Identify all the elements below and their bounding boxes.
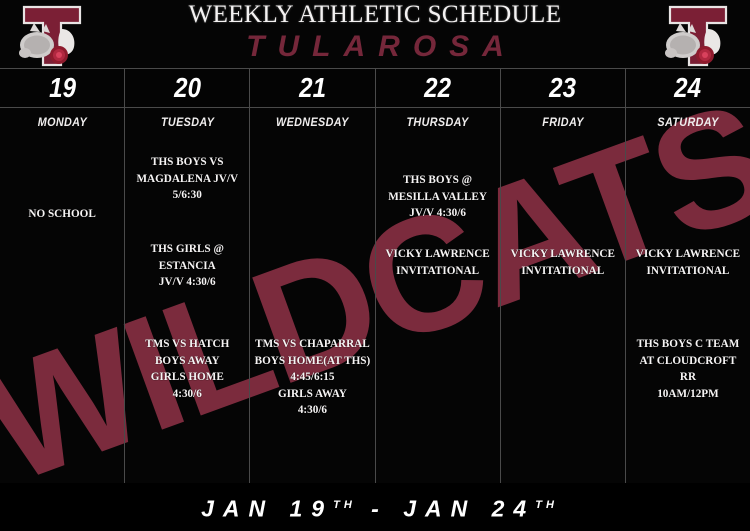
event-line: THS BOYS C TEAM <box>629 336 747 353</box>
day-name: MONDAY <box>37 116 86 128</box>
range-end-suffix: TH <box>535 499 558 511</box>
day-name: FRIDAY <box>542 116 584 128</box>
events-area: THS BOYS @MESILLA VALLEYJV/V 4:30/6VICKY… <box>376 136 500 483</box>
date-cell: 22 <box>376 69 500 108</box>
event-line: 4:45/6:15 <box>253 369 371 386</box>
event-line: GIRLS AWAY <box>253 386 371 403</box>
date-number: 23 <box>549 74 576 102</box>
event-line: MAGDALENA JV/V <box>128 171 246 188</box>
day-name-cell: FRIDAY <box>501 108 625 136</box>
day-name: SATURDAY <box>657 116 718 128</box>
day-name-cell: MONDAY <box>0 108 124 136</box>
event-line: VICKY LAWRENCE <box>379 246 497 263</box>
event-line: 10AM/12PM <box>629 386 747 403</box>
event-entry: THS GIRLS @ESTANCIAJV/V 4:30/6 <box>128 241 246 291</box>
day-name: TUESDAY <box>161 116 214 128</box>
day-name: THURSDAY <box>407 116 469 128</box>
range-end-day: 24 <box>492 496 536 522</box>
events-area: THS BOYS VSMAGDALENA JV/V5/6:30THS GIRLS… <box>125 136 249 483</box>
date-cell: 20 <box>125 69 249 108</box>
date-cell: 24 <box>626 69 750 108</box>
event-entry: VICKY LAWRENCEINVITATIONAL <box>629 246 747 279</box>
day-column-friday: 23FRIDAYVICKY LAWRENCEINVITATIONAL <box>501 69 626 483</box>
weekly-schedule-poster: WILDCATS WEEKLY ATHLETIC SCH <box>0 0 750 531</box>
poster-footer: JAN 19TH - JAN 24TH <box>0 483 750 531</box>
day-column-saturday: 24SATURDAYVICKY LAWRENCEINVITATIONALTHS … <box>626 69 750 483</box>
event-line: INVITATIONAL <box>504 263 622 280</box>
range-start-day: 19 <box>290 496 334 522</box>
event-line: JV/V 4:30/6 <box>128 274 246 291</box>
event-line: TMS VS HATCH <box>128 336 246 353</box>
event-line: BOYS AWAY <box>128 353 246 370</box>
range-separator: - <box>371 496 388 522</box>
day-name-cell: THURSDAY <box>376 108 500 136</box>
event-entry: THS BOYS VSMAGDALENA JV/V5/6:30 <box>128 154 246 204</box>
event-line: NO SCHOOL <box>3 206 121 223</box>
event-line: JV/V 4:30/6 <box>379 205 497 222</box>
poster-header: WEEKLY ATHLETIC SCHEDULE TULAROSA <box>0 0 750 68</box>
event-line: THS GIRLS @ <box>128 241 246 258</box>
event-line: TMS VS CHAPARRAL <box>253 336 371 353</box>
event-entry: NO SCHOOL <box>3 206 121 223</box>
schedule-grid: 19MONDAYNO SCHOOL20TUESDAYTHS BOYS VSMAG… <box>0 68 750 484</box>
tularosa-logo-right <box>650 1 746 67</box>
date-number: 19 <box>49 74 76 102</box>
range-start-month: JAN <box>201 496 274 522</box>
range-end-month: JAN <box>403 496 476 522</box>
event-line: INVITATIONAL <box>629 263 747 280</box>
event-entry: VICKY LAWRENCEINVITATIONAL <box>379 246 497 279</box>
event-line: 4:30/6 <box>128 386 246 403</box>
events-area: NO SCHOOL <box>0 136 124 483</box>
event-line: GIRLS HOME <box>128 369 246 386</box>
date-number: 21 <box>299 74 326 102</box>
range-start-suffix: TH <box>333 499 356 511</box>
event-line: VICKY LAWRENCE <box>504 246 622 263</box>
day-name: WEDNESDAY <box>276 116 349 128</box>
event-line: THS BOYS @ <box>379 172 497 189</box>
event-line: THS BOYS VS <box>128 154 246 171</box>
event-line: MESILLA VALLEY <box>379 189 497 206</box>
day-name-cell: WEDNESDAY <box>250 108 374 136</box>
date-number: 20 <box>174 74 201 102</box>
event-line: 4:30/6 <box>253 402 371 419</box>
day-name-cell: TUESDAY <box>125 108 249 136</box>
event-entry: TMS VS HATCHBOYS AWAYGIRLS HOME4:30/6 <box>128 336 246 402</box>
date-range: JAN 19TH - JAN 24TH <box>192 492 558 522</box>
page-title: WEEKLY ATHLETIC SCHEDULE <box>110 0 640 30</box>
school-name: TULAROSA <box>110 30 640 64</box>
date-number: 22 <box>424 74 451 102</box>
day-column-thursday: 22THURSDAYTHS BOYS @MESILLA VALLEYJV/V 4… <box>376 69 501 483</box>
events-area: VICKY LAWRENCEINVITATIONALTHS BOYS C TEA… <box>626 136 750 483</box>
date-cell: 19 <box>0 69 124 108</box>
event-line: BOYS HOME(AT THS) <box>253 353 371 370</box>
event-entry: VICKY LAWRENCEINVITATIONAL <box>504 246 622 279</box>
event-entry: THS BOYS C TEAMAT CLOUDCROFTRR10AM/12PM <box>629 336 747 402</box>
title-block: WEEKLY ATHLETIC SCHEDULE TULAROSA <box>110 0 640 64</box>
events-area: VICKY LAWRENCEINVITATIONAL <box>501 136 625 483</box>
date-cell: 23 <box>501 69 625 108</box>
date-cell: 21 <box>250 69 374 108</box>
day-name-cell: SATURDAY <box>626 108 750 136</box>
event-line: AT CLOUDCROFT <box>629 353 747 370</box>
event-line: INVITATIONAL <box>379 263 497 280</box>
day-column-wednesday: 21WEDNESDAYTMS VS CHAPARRALBOYS HOME(AT … <box>250 69 375 483</box>
event-entry: THS BOYS @MESILLA VALLEYJV/V 4:30/6 <box>379 172 497 222</box>
event-entry: TMS VS CHAPARRALBOYS HOME(AT THS)4:45/6:… <box>253 336 371 419</box>
event-line: RR <box>629 369 747 386</box>
events-area: TMS VS CHAPARRALBOYS HOME(AT THS)4:45/6:… <box>250 136 374 483</box>
event-line: ESTANCIA <box>128 258 246 275</box>
event-line: 5/6:30 <box>128 187 246 204</box>
day-column-monday: 19MONDAYNO SCHOOL <box>0 69 125 483</box>
date-number: 24 <box>675 74 702 102</box>
day-column-tuesday: 20TUESDAYTHS BOYS VSMAGDALENA JV/V5/6:30… <box>125 69 250 483</box>
event-line: VICKY LAWRENCE <box>629 246 747 263</box>
tularosa-logo-left <box>4 1 100 67</box>
